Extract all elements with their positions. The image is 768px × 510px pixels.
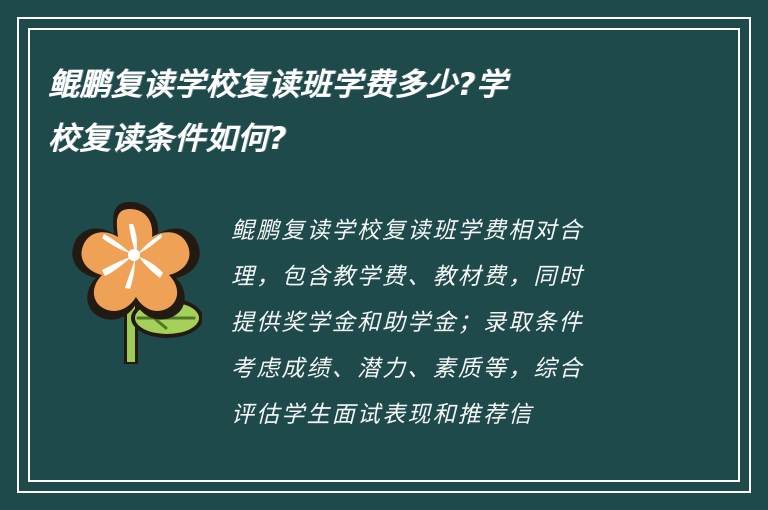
body-line-2: 理，包含教学费、教材费，同时 (231, 254, 651, 300)
body-line-3: 提供奖学金和助学金；录取条件 (231, 300, 651, 346)
flower-petals-icon (72, 202, 199, 320)
flower-illustration (62, 196, 202, 368)
poster-canvas: 鲲鹏复读学校复读班学费多少?学 校复读条件如何? (0, 0, 768, 510)
title-line-2: 校复读条件如何? (48, 112, 648, 166)
body-paragraph: 鲲鹏复读学校复读班学费相对合 理，包含教学费、教材费，同时 提供奖学金和助学金；… (231, 208, 651, 438)
page-title: 鲲鹏复读学校复读班学费多少?学 校复读条件如何? (48, 58, 648, 166)
body-line-5: 评估学生面试表现和推荐信 (231, 392, 651, 438)
body-line-4: 考虑成绩、潜力、素质等，综合 (231, 346, 651, 392)
body-line-1: 鲲鹏复读学校复读班学费相对合 (231, 208, 651, 254)
title-line-1: 鲲鹏复读学校复读班学费多少?学 (48, 58, 648, 112)
